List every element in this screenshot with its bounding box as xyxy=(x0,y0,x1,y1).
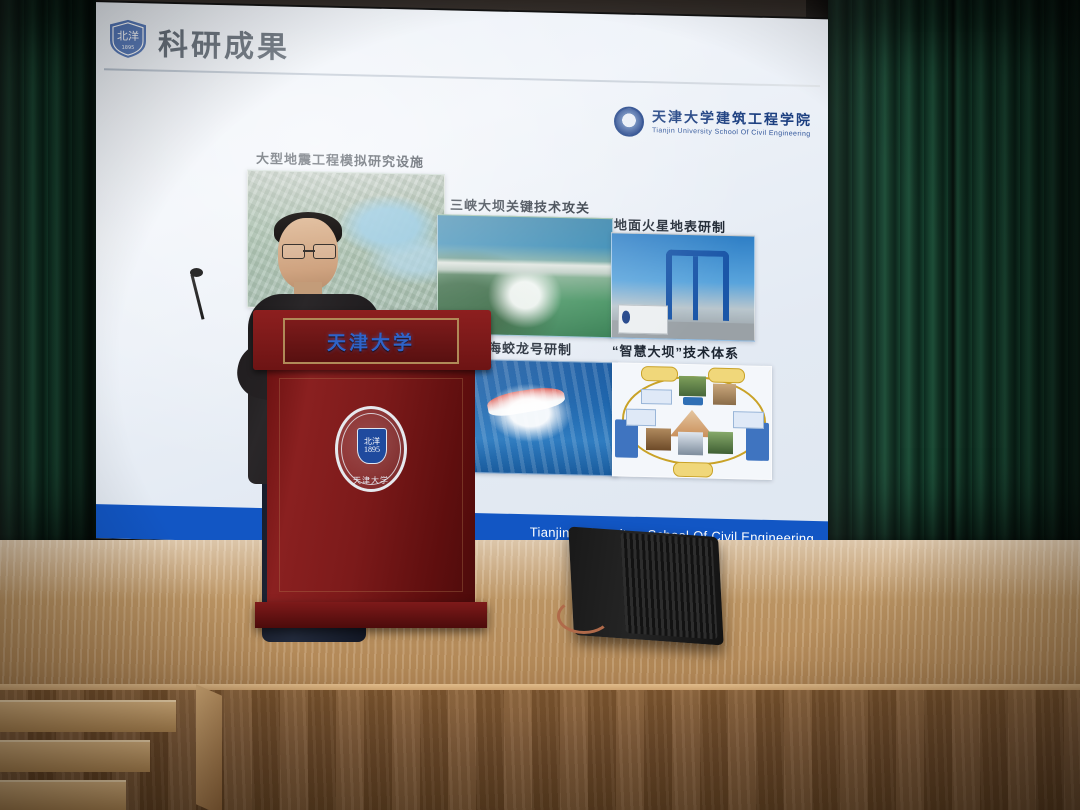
emblem-name-cn: 天津大学 xyxy=(335,475,407,486)
auditorium-scene: 北洋 1895 科研成果 天津大学建筑工程学院 Tianjin Universi… xyxy=(0,0,1080,810)
school-logo: 天津大学建筑工程学院 Tianjin University School Of … xyxy=(614,106,812,141)
school-name-en: Tianjin University School Of Civil Engin… xyxy=(652,127,812,138)
microphone-icon xyxy=(190,268,203,277)
university-seal-icon xyxy=(614,106,644,137)
school-name-cn: 天津大学建筑工程学院 xyxy=(652,111,812,129)
title-divider xyxy=(104,68,820,87)
lectern-plaque-text: 天津大学 xyxy=(285,320,457,362)
stage-monitor-speaker xyxy=(571,532,721,640)
emblem-shield-icon: 北洋 1895 xyxy=(357,428,387,464)
stage-curtain-right xyxy=(828,0,1080,560)
image-gantry-structure xyxy=(611,232,755,341)
lectern: 天津大学 北洋 1895 天津大学 xyxy=(253,310,491,628)
stage-curtain-left xyxy=(0,0,96,560)
caption-seismic-facility: 大型地震工程模拟研究设施 xyxy=(256,148,424,171)
eyeglasses-icon xyxy=(282,244,336,257)
stage-floor xyxy=(0,540,1080,700)
lectern-base xyxy=(255,602,487,628)
university-emblem: 北洋 1895 天津大学 xyxy=(335,406,407,492)
stage-steps-side xyxy=(196,684,222,810)
lectern-plaque: 天津大学 xyxy=(283,318,459,364)
audio-cable xyxy=(557,598,611,634)
peiyang-shield-logo: 北洋 1895 xyxy=(106,16,150,61)
slide-title: 科研成果 xyxy=(158,20,290,67)
image-smart-dam-diagram xyxy=(612,362,772,480)
caption-three-gorges-dam: 三峡大坝关键技术攻关 xyxy=(450,194,590,216)
lectern-top: 天津大学 xyxy=(253,310,491,370)
emblem-year: 1895 xyxy=(364,446,380,454)
svg-text:1895: 1895 xyxy=(122,45,135,51)
caption-smart-dam: “智慧大坝”技术体系 xyxy=(612,340,739,362)
svg-text:北洋: 北洋 xyxy=(117,29,139,44)
